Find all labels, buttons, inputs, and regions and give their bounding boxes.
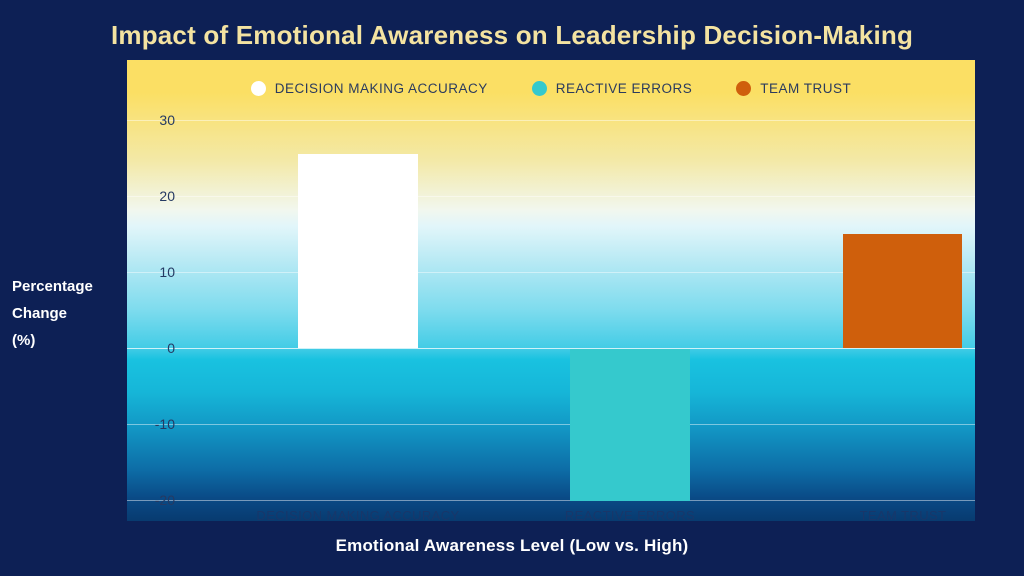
plot-area: DECISION MAKING ACCURACY REACTIVE ERRORS… [127,60,975,521]
y-tick-label-minus-10: -10 [131,417,175,431]
bar-team-trust [843,234,962,348]
y-axis-title-line-3: (%) [12,327,124,354]
legend-swatch-circle-icon [251,81,266,96]
bar-decision-making-accuracy [298,154,418,348]
x-category-label-1: REACTIVE ERRORS [510,508,750,521]
y-tick-label-minus-20: -20 [131,493,175,507]
gridline-minus-20 [127,500,975,501]
legend-swatch-circle-icon [736,81,751,96]
y-tick-label-0: 0 [131,341,175,355]
x-category-label-0: DECISION MAKING ACCURACY [238,508,478,521]
chart-title: Impact of Emotional Awareness on Leaders… [0,18,1024,52]
y-tick-label-30: 30 [131,113,175,127]
legend-item-reactive-errors[interactable]: REACTIVE ERRORS [532,81,693,96]
legend-item-team-trust[interactable]: TEAM TRUST [736,81,851,96]
legend-swatch-circle-icon [532,81,547,96]
legend-label-team-trust: TEAM TRUST [760,81,851,96]
chart-slide: Impact of Emotional Awareness on Leaders… [0,0,1024,576]
legend-label-decision-making-accuracy: DECISION MAKING ACCURACY [275,81,488,96]
y-tick-label-20: 20 [131,189,175,203]
y-tick-label-10: 10 [131,265,175,279]
gridline-minus-10 [127,424,975,425]
gridline-20 [127,196,975,197]
bar-reactive-errors [570,349,690,501]
y-axis-title: Percentage Change (%) [12,273,124,354]
y-axis-title-line-2: Change [12,300,124,327]
gridline-zero [127,348,975,349]
x-category-label-2: TEAM TRUST [783,508,975,521]
y-axis-title-line-1: Percentage [12,273,124,300]
chart-legend: DECISION MAKING ACCURACY REACTIVE ERRORS… [127,81,975,96]
legend-item-decision-making-accuracy[interactable]: DECISION MAKING ACCURACY [251,81,488,96]
x-axis-title: Emotional Awareness Level (Low vs. High) [0,536,1024,556]
gridline-30 [127,120,975,121]
legend-label-reactive-errors: REACTIVE ERRORS [556,81,693,96]
